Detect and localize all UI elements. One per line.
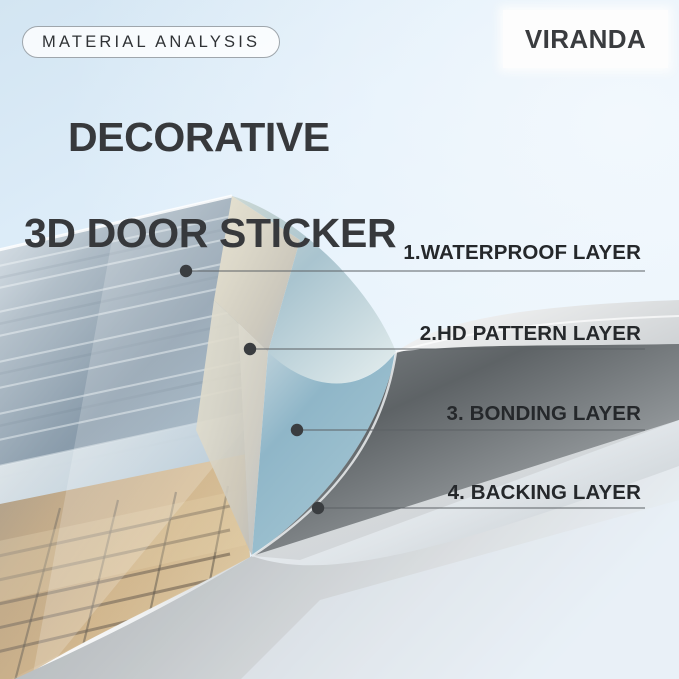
layer-label-4: 4. BACKING LAYER — [448, 481, 641, 505]
layer-label-2: 2.HD PATTERN LAYER — [420, 322, 641, 346]
layer-label-text-4: 4. BACKING LAYER — [448, 481, 641, 505]
layer-label-3: 3. BONDING LAYER — [447, 402, 642, 426]
layer-label-text-2: 2.HD PATTERN LAYER — [420, 322, 641, 346]
brand-logo: VIRANDA — [503, 10, 668, 68]
material-analysis-badge: MATERIAL ANALYSIS — [22, 26, 280, 58]
badge-label: MATERIAL ANALYSIS — [42, 33, 260, 52]
title-line-2: 3D DOOR STICKER — [24, 210, 396, 256]
page-title: DECORATIVE 3D DOOR STICKER — [24, 68, 396, 348]
leader-dot-3 — [291, 424, 303, 436]
infographic-canvas: MATERIAL ANALYSIS DECORATIVE 3D DOOR STI… — [0, 0, 679, 679]
brand-name: VIRANDA — [525, 24, 646, 55]
title-line-1: DECORATIVE — [68, 114, 330, 160]
leader-dot-4 — [312, 502, 324, 514]
layer-label-text-1: 1.WATERPROOF LAYER — [403, 241, 641, 265]
layer-label-text-3: 3. BONDING LAYER — [447, 402, 642, 426]
layer-label-1: 1.WATERPROOF LAYER — [403, 241, 641, 265]
